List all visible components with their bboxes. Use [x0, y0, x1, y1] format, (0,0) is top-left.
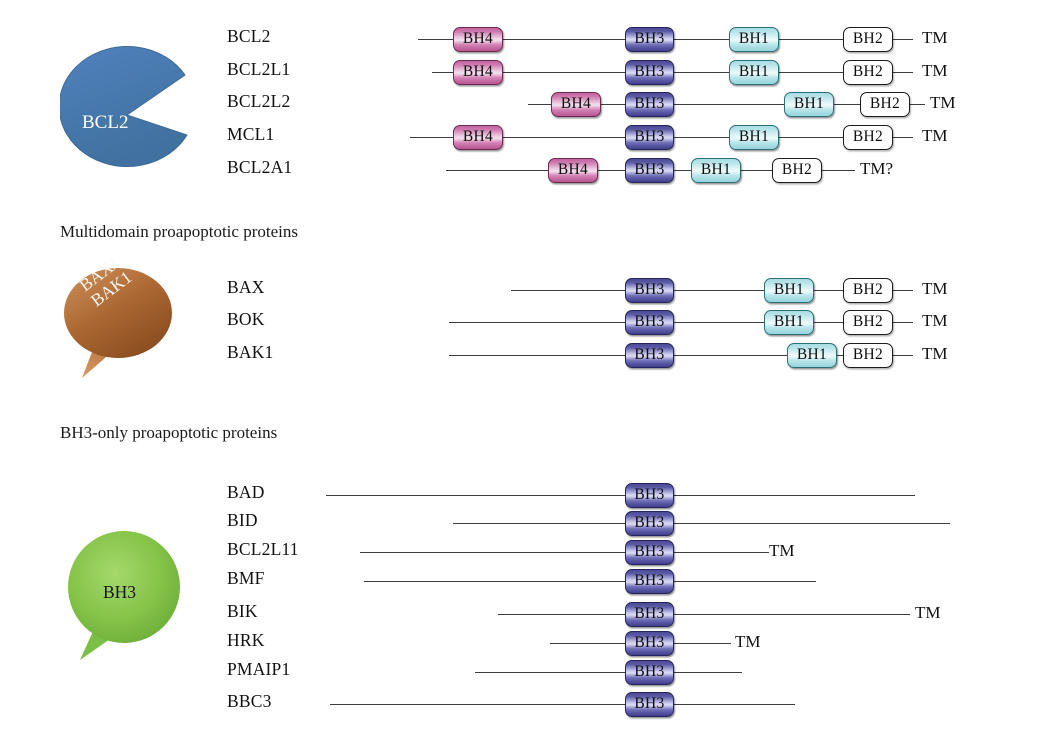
- domain-bcl2l1-bh3: BH3: [625, 60, 674, 85]
- backbone-bcl2l11: [360, 552, 769, 553]
- protein-label-bad: BAD: [227, 482, 265, 503]
- terminal-label-bcl2: TM: [922, 28, 948, 48]
- protein-label-bid: BID: [227, 510, 258, 531]
- bh3-bubble-icon: [62, 525, 187, 665]
- terminal-label-bcl2l2: TM: [930, 93, 956, 113]
- domain-bcl2l2-bh3: BH3: [625, 92, 674, 117]
- domain-bok-bh2: BH2: [843, 310, 893, 335]
- protein-label-bik: BIK: [227, 601, 258, 622]
- domain-bak1-bh1: BH1: [787, 343, 837, 368]
- protein-label-bax: BAX: [227, 277, 265, 298]
- section-header-multidomain: Multidomain proapoptotic proteins: [60, 222, 298, 242]
- backbone-bbc3: [330, 704, 795, 705]
- backbone-bid: [453, 523, 950, 524]
- backbone-pmaip1: [475, 672, 742, 673]
- domain-mcl1-bh4: BH4: [453, 125, 503, 150]
- terminal-label-bak1: TM: [922, 344, 948, 364]
- protein-label-bok: BOK: [227, 309, 265, 330]
- domain-bax-bh2: BH2: [843, 278, 893, 303]
- badge-bcl2: BCL2: [60, 46, 210, 186]
- terminal-label-mcl1: TM: [922, 126, 948, 146]
- terminal-label-hrk: TM: [735, 632, 761, 652]
- protein-label-pmaip1: PMAIP1: [227, 659, 290, 680]
- domain-hrk-bh3: BH3: [625, 631, 674, 656]
- backbone-bad: [326, 495, 915, 496]
- figure-canvas: BCL2 BCL2 BH4 BH3 BH1 BH2 TM BCL2L1 BH4 …: [0, 0, 1040, 730]
- domain-bbc3-bh3: BH3: [625, 692, 674, 717]
- badge-bh3: BH3: [62, 525, 187, 665]
- terminal-label-bax: TM: [922, 279, 948, 299]
- terminal-label-bik: TM: [915, 603, 941, 623]
- badge-bax-bak1: BAX/ BAK1: [60, 258, 190, 383]
- domain-bcl2-bh1: BH1: [729, 27, 779, 52]
- backbone-bik: [498, 614, 910, 615]
- domain-bcl2l2-bh2: BH2: [860, 92, 910, 117]
- domain-pmaip1-bh3: BH3: [625, 660, 674, 685]
- domain-mcl1-bh1: BH1: [729, 125, 779, 150]
- domain-bcl2l1-bh1: BH1: [729, 60, 779, 85]
- domain-bcl2l2-bh1: BH1: [784, 92, 834, 117]
- protein-label-bcl2: BCL2: [227, 26, 271, 47]
- domain-bcl2l1-bh4: BH4: [453, 60, 503, 85]
- section-header-bh3-only: BH3-only proapoptotic proteins: [60, 423, 277, 443]
- protein-label-bmf: BMF: [227, 568, 265, 589]
- domain-bcl2-bh2: BH2: [843, 27, 893, 52]
- domain-bok-bh3: BH3: [625, 310, 674, 335]
- domain-bax-bh1: BH1: [764, 278, 814, 303]
- domain-bcl2l1-bh2: BH2: [843, 60, 893, 85]
- domain-bcl2a1-bh4: BH4: [548, 158, 598, 183]
- backbone-bmf: [364, 581, 816, 582]
- domain-bak1-bh3: BH3: [625, 343, 674, 368]
- protein-label-bak1: BAK1: [227, 342, 274, 363]
- domain-bok-bh1: BH1: [764, 310, 814, 335]
- domain-bak1-bh2: BH2: [843, 343, 893, 368]
- terminal-label-bcl2l11: TM: [769, 541, 795, 561]
- domain-bcl2l11-bh3: BH3: [625, 540, 674, 565]
- protein-label-bcl2l1: BCL2L1: [227, 59, 290, 80]
- domain-bmf-bh3: BH3: [625, 569, 674, 594]
- domain-mcl1-bh2: BH2: [843, 125, 893, 150]
- domain-bcl2l2-bh4: BH4: [551, 92, 601, 117]
- terminal-label-bcl2a1: TM?: [860, 159, 893, 179]
- domain-bax-bh3: BH3: [625, 278, 674, 303]
- bcl2-pie-icon: [60, 46, 210, 186]
- protein-label-bbc3: BBC3: [227, 691, 272, 712]
- domain-bcl2a1-bh1: BH1: [691, 158, 741, 183]
- protein-label-bcl2a1: BCL2A1: [227, 157, 292, 178]
- protein-label-bcl2l11: BCL2L11: [227, 539, 299, 560]
- bax-bak1-bubble-icon: [60, 258, 190, 383]
- protein-label-bcl2l2: BCL2L2: [227, 91, 290, 112]
- protein-label-hrk: HRK: [227, 630, 265, 651]
- domain-bcl2-bh4: BH4: [453, 27, 503, 52]
- domain-bcl2a1-bh2: BH2: [772, 158, 822, 183]
- domain-bid-bh3: BH3: [625, 511, 674, 536]
- domain-bik-bh3: BH3: [625, 602, 674, 627]
- domain-bcl2a1-bh3: BH3: [625, 158, 674, 183]
- terminal-label-bcl2l1: TM: [922, 61, 948, 81]
- domain-bcl2-bh3: BH3: [625, 27, 674, 52]
- terminal-label-bok: TM: [922, 311, 948, 331]
- domain-mcl1-bh3: BH3: [625, 125, 674, 150]
- domain-bad-bh3: BH3: [625, 483, 674, 508]
- protein-label-mcl1: MCL1: [227, 124, 274, 145]
